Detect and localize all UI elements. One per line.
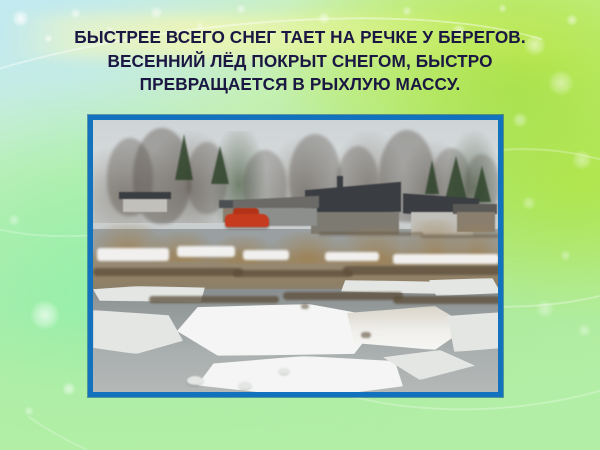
conifer-tree [473, 166, 491, 202]
snow-patch [97, 248, 169, 261]
slide-photo [93, 120, 498, 392]
ice-chunk [279, 368, 289, 374]
ice-chunk [187, 376, 203, 385]
snow-patch [393, 254, 498, 264]
slide-title: БЫСТРЕЕ ВСЕГО СНЕГ ТАЕТ НА РЕЧКЕ У БЕРЕГ… [18, 26, 582, 97]
muddy-bank [233, 270, 353, 277]
house-roof [119, 192, 171, 199]
wooden-fence [421, 234, 498, 238]
conifer-tree [425, 160, 439, 194]
red-car [225, 214, 269, 227]
wooden-fence [319, 232, 423, 236]
debris-line [149, 296, 279, 303]
ice-debris [361, 332, 371, 338]
conifer-tree [175, 134, 193, 180]
ice-floe [429, 278, 498, 296]
muddy-bank [343, 266, 498, 275]
snow-patch [177, 246, 235, 257]
title-line-2: ВЕСЕННИЙ ЛЁД ПОКРЫТ СНЕГОМ, БЫСТРО [18, 50, 582, 74]
title-line-1: БЫСТРЕЕ ВСЕГО СНЕГ ТАЕТ НА РЕЧКЕ У БЕРЕГ… [18, 26, 582, 50]
conifer-tree [445, 156, 467, 200]
chimney [337, 176, 343, 190]
muddy-bank [93, 268, 243, 276]
title-line-3: ПРЕВРАЩАЕТСЯ В РЫХЛУЮ МАССУ. [18, 73, 582, 97]
snow-patch [325, 252, 379, 261]
photo-frame [88, 115, 503, 397]
debris-line [393, 296, 498, 304]
snow-patch [243, 250, 289, 260]
conifer-tree [211, 146, 229, 184]
debris-line [283, 292, 403, 300]
presentation-slide: БЫСТРЕЕ ВСЕГО СНЕГ ТАЕТ НА РЕЧКЕ У БЕРЕГ… [0, 0, 600, 450]
village-house [123, 198, 167, 212]
ice-debris [301, 304, 309, 309]
ice-chunk [239, 382, 251, 389]
